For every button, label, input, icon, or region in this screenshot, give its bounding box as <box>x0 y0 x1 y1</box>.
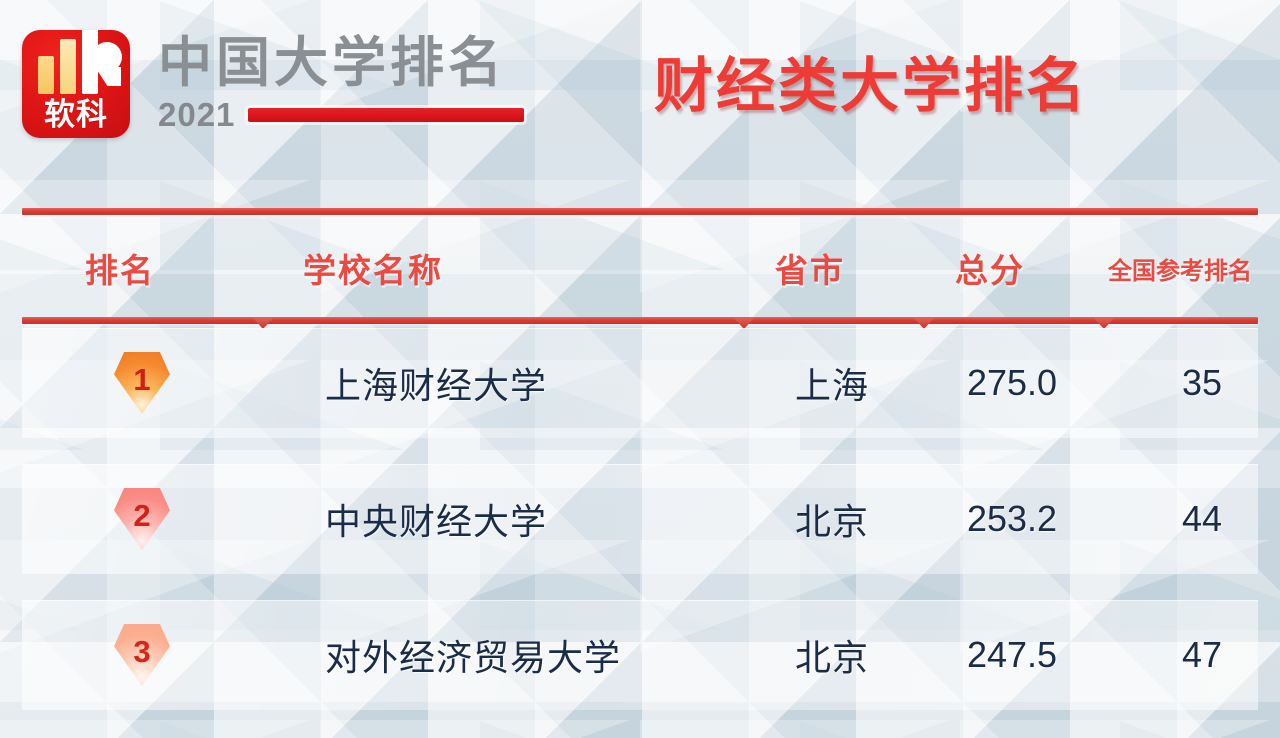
province-cell: 北京 <box>742 493 922 545</box>
page-header: 软科 中国大学排名 2021 财经类大学排名 <box>0 0 1280 190</box>
total-score-cell: 253.2 <box>922 498 1102 540</box>
brand-subtitle-row: 2021 <box>158 98 524 131</box>
table-bottom-rule <box>22 317 1258 324</box>
total-score-cell: 275.0 <box>922 362 1102 404</box>
column-header-province: 省市 <box>720 244 900 292</box>
ruanke-logo-icon: 软科 <box>22 30 130 138</box>
national-rank-cell: 47 <box>1102 634 1280 676</box>
rank-number: 3 <box>133 636 150 667</box>
rank-gem-icon: 2 <box>114 488 170 550</box>
column-header-school: 学校名称 <box>240 244 720 292</box>
logo-bar-medium-icon <box>60 39 76 94</box>
table-row[interactable]: 2 中央财经大学 北京 253.2 44 <box>22 464 1258 574</box>
table-header-row: 排名 学校名称 省市 总分 全国参考排名 <box>0 222 1280 314</box>
table-row[interactable]: 3 对外经济贸易大学 北京 247.5 47 <box>22 600 1258 710</box>
brand-titles: 中国大学排名 2021 <box>158 30 524 131</box>
logo-bar-short-icon <box>38 56 54 94</box>
national-rank-cell: 44 <box>1102 498 1280 540</box>
logo-letter-r-icon <box>82 42 122 86</box>
column-header-score: 总分 <box>900 244 1080 292</box>
table-row[interactable]: 1 上海财经大学 上海 275.0 35 <box>22 328 1258 438</box>
rank-number: 2 <box>133 500 150 531</box>
ranking-table: 排名 学校名称 省市 总分 全国参考排名 1 上海财经大学 上海 275.0 3… <box>0 200 1280 738</box>
national-rank-cell: 35 <box>1102 362 1280 404</box>
table-body: 1 上海财经大学 上海 275.0 35 2 中央财经大学 北京 253.2 4… <box>0 328 1280 736</box>
rank-gem-icon: 1 <box>114 352 170 414</box>
rank-cell: 2 <box>22 488 262 550</box>
total-score-cell: 247.5 <box>922 634 1102 676</box>
brand-red-bar <box>248 108 524 122</box>
rank-cell: 1 <box>22 352 262 414</box>
school-name-cell[interactable]: 上海财经大学 <box>262 357 742 409</box>
school-name-cell[interactable]: 中央财经大学 <box>262 493 742 545</box>
school-name-cell[interactable]: 对外经济贸易大学 <box>262 629 742 681</box>
brand-block: 软科 中国大学排名 2021 <box>22 30 524 138</box>
rank-number: 1 <box>133 364 150 395</box>
table-top-rule <box>22 208 1258 215</box>
logo-wordmark: 软科 <box>22 100 130 131</box>
province-cell: 上海 <box>742 357 922 409</box>
province-cell: 北京 <box>742 629 922 681</box>
page-title: 财经类大学排名 <box>654 56 1088 115</box>
column-header-national-rank: 全国参考排名 <box>1080 251 1280 286</box>
brand-year: 2021 <box>158 98 235 131</box>
column-header-rank: 排名 <box>0 244 240 292</box>
rank-cell: 3 <box>22 624 262 686</box>
rank-gem-icon: 3 <box>114 624 170 686</box>
brand-name: 中国大学排名 <box>158 34 524 92</box>
